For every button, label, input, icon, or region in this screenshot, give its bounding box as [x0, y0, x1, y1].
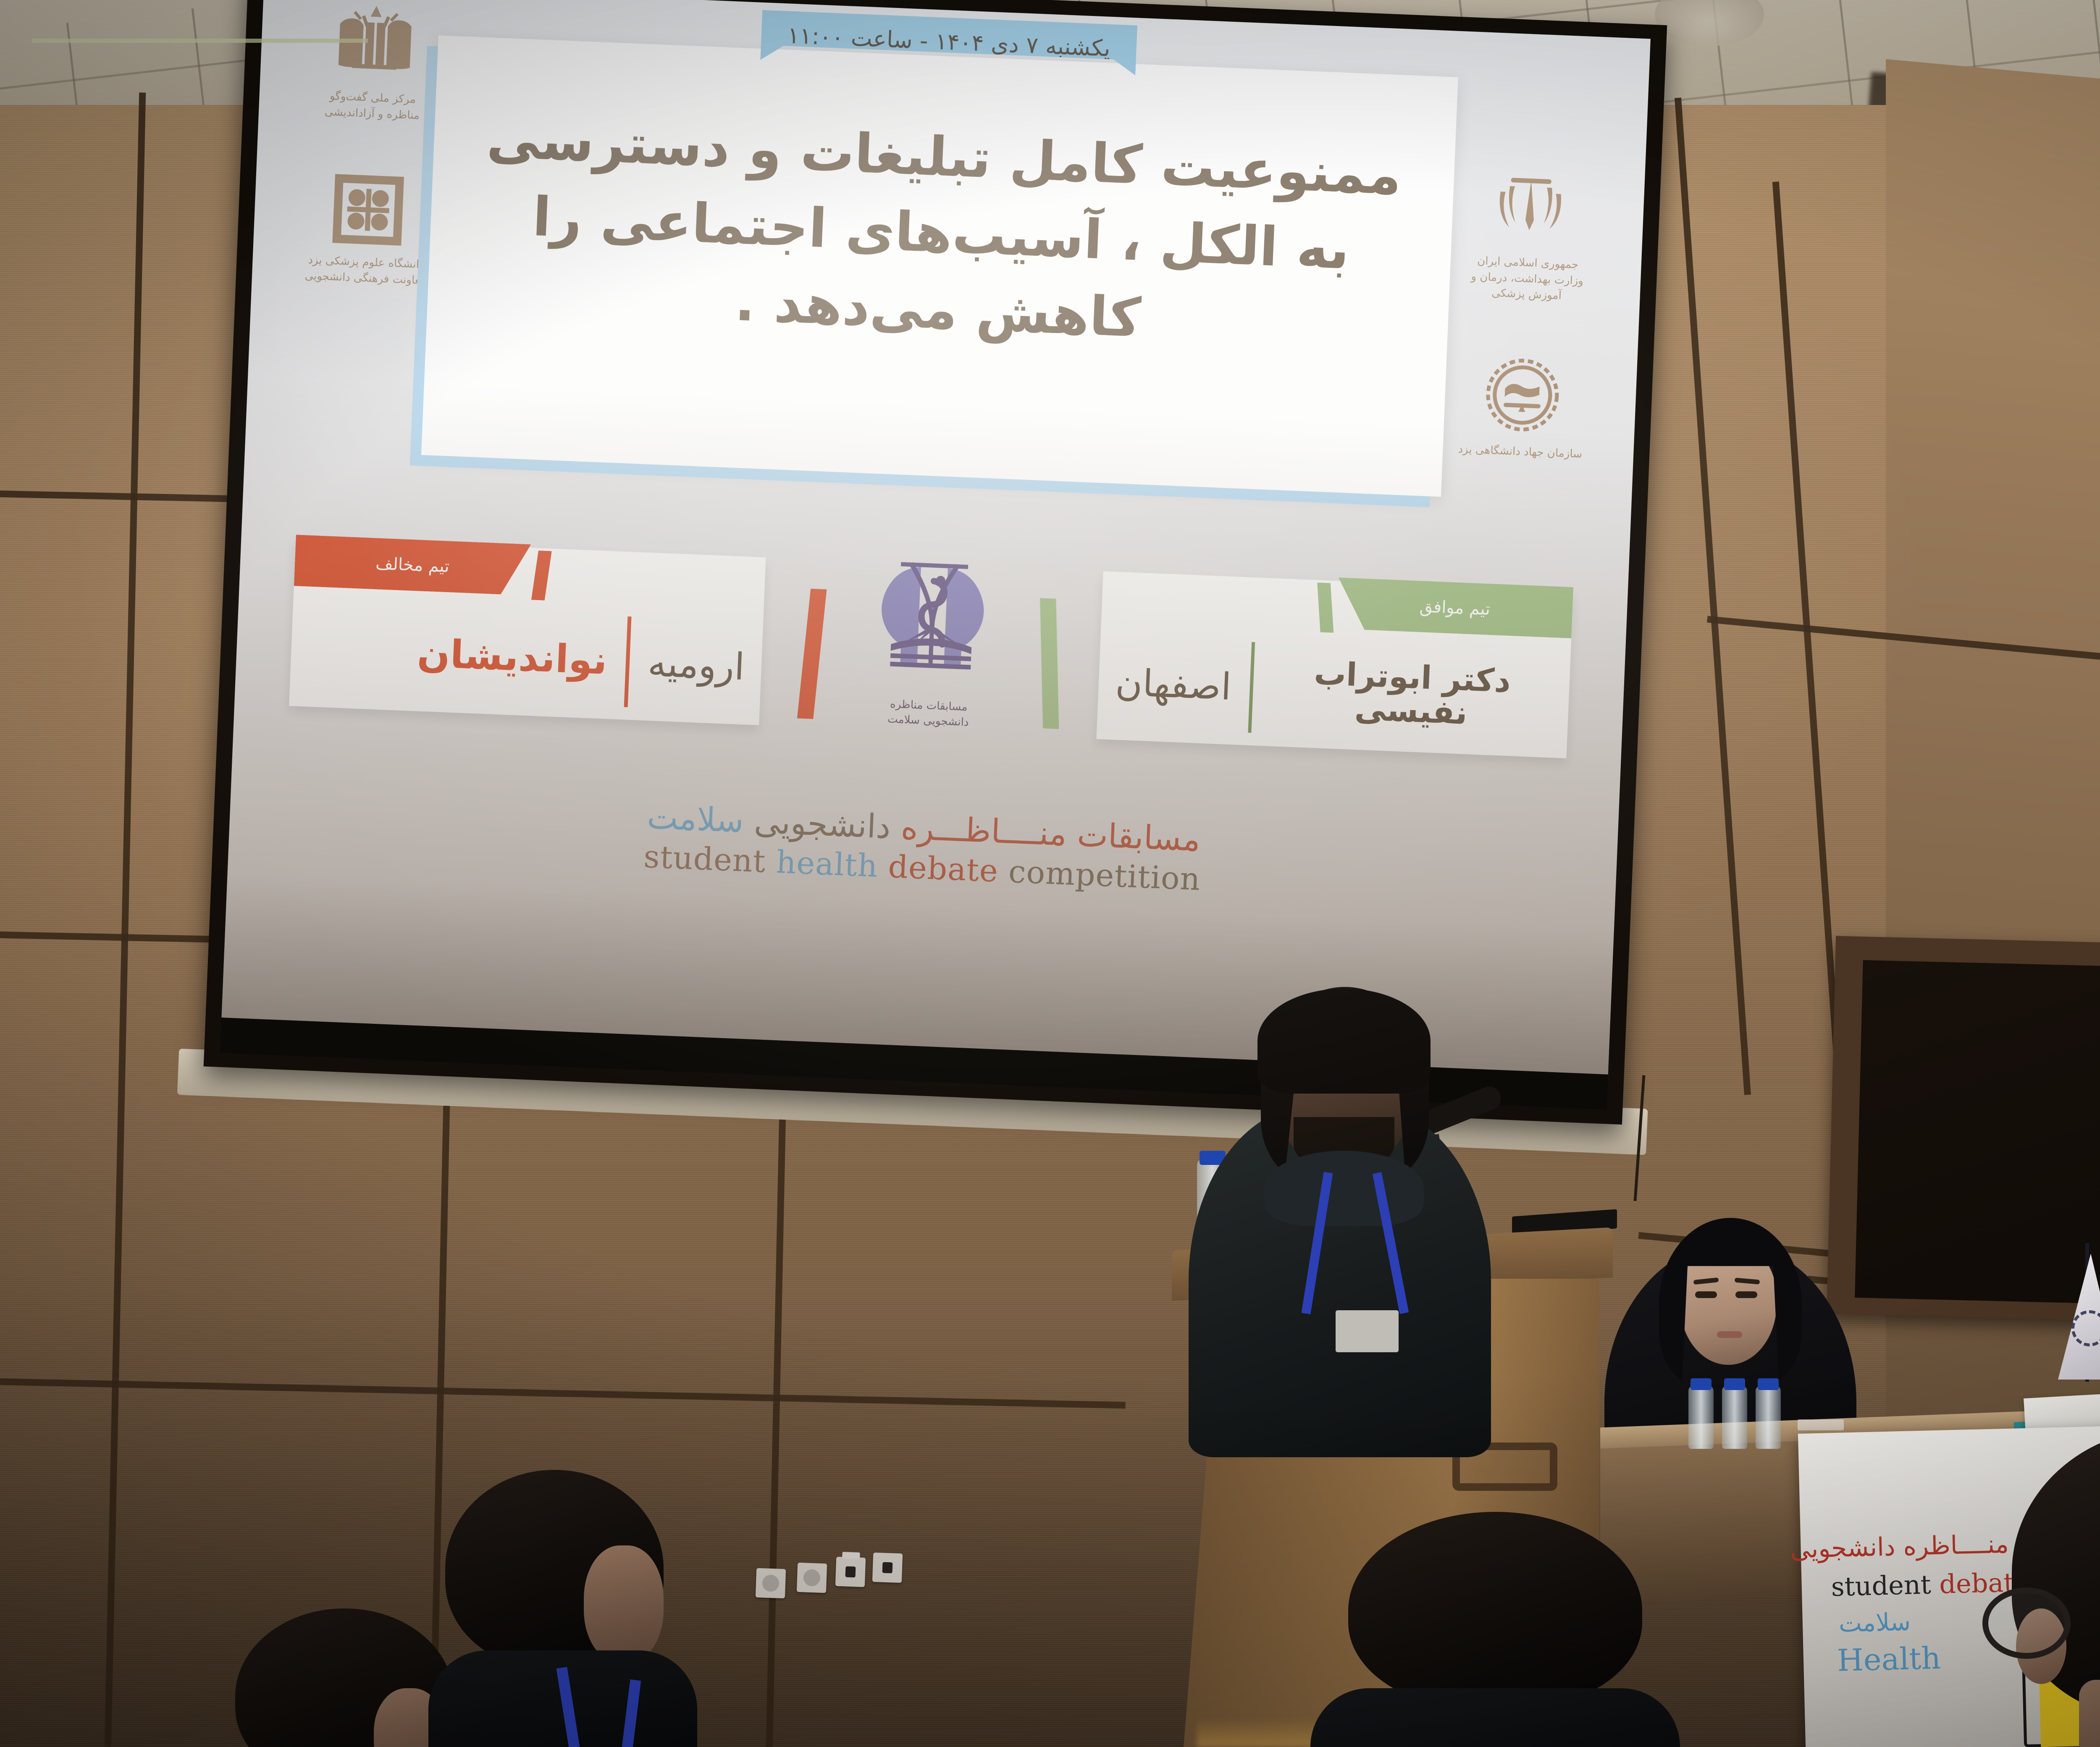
judge-mouth	[1717, 1331, 1742, 1338]
scoring-papers	[2024, 1387, 2100, 1432]
slide-brand-footer: مسابقات منــــاظـــره دانشجویی سلامت stu…	[543, 794, 1302, 902]
proposition-team-city: اصفهان	[1115, 660, 1232, 708]
projection-screen-surface: مرکز ملی گفت‌وگو مناظره و آزاداندیشی	[221, 0, 1650, 1074]
national-dialogue-center-logo: مرکز ملی گفت‌وگو مناظره و آزاداندیشی	[309, 1, 439, 124]
eyeglasses-icon	[1982, 1587, 2071, 1659]
speaker-name-badge	[1336, 1310, 1399, 1352]
water-bottle	[1722, 1386, 1747, 1449]
socket-hole	[762, 1574, 779, 1592]
opposition-team-flag-label: تیم مخالف	[294, 535, 531, 595]
debate-competition-emblem: مسابقات مناظره دانشجویی سلامت	[835, 552, 1027, 740]
audience-shoulders	[1310, 1688, 1680, 1747]
bottle-cap	[1758, 1378, 1779, 1390]
port-flap	[842, 1552, 860, 1559]
audience-member-front-left	[235, 1608, 454, 1747]
brand-fa-part-2: ـــاظـــره	[890, 808, 1031, 852]
debate-motion-title: ممنوعیت کامل تبلیغات و دسترسی به الکل ، …	[456, 100, 1426, 368]
jahad-daneshgahi-logo: سازمان جهاد دانشگاهی یزد	[1457, 351, 1587, 463]
brand-en-word-student: student	[643, 839, 766, 880]
wall-panel-inner	[1855, 960, 2100, 1306]
opposition-team-city: ارومیه	[647, 641, 745, 688]
university-cultural-institute-logo: دانشگاه علوم پزشکی یزد معاونت فرهنگی دان…	[302, 170, 433, 289]
proposition-slash-accent	[1034, 598, 1064, 729]
brand-en-word-health: health	[775, 844, 879, 884]
proposition-team-card: تیم موافق اصفهان دکتر ابوتراب نفیسی	[1096, 571, 1573, 758]
port-hole	[845, 1566, 856, 1578]
judge-eye-left	[1695, 1291, 1717, 1298]
wall-data-port-1[interactable]	[835, 1557, 866, 1587]
bottle-cap	[1724, 1378, 1745, 1390]
wall-socket-1[interactable]	[756, 1568, 786, 1598]
opposition-flag-tick	[531, 550, 552, 601]
water-bottle	[1688, 1386, 1714, 1449]
proposition-team-name: دکتر ابوتراب نفیسی	[1270, 655, 1553, 733]
audience-face	[584, 1545, 664, 1663]
emblem-caption: مسابقات مناظره دانشجویی سلامت	[835, 694, 1021, 732]
opposition-team-name: نواندیشان	[416, 633, 608, 681]
iran-emblem-ministry-of-health-logo: جمهوری اسلامی ایران وزارت بهداشت، درمان …	[1463, 170, 1594, 305]
brand-fa-part-4: سلامت	[646, 798, 745, 840]
projection-screen-frame: مرکز ملی گفت‌وگو مناظره و آزاداندیشی	[204, 0, 1667, 1125]
team-divider	[624, 616, 631, 707]
logo-caption: جمهوری اسلامی ایران وزارت بهداشت، درمان …	[1463, 253, 1591, 305]
team-divider	[1248, 642, 1255, 733]
presentation-slide: مرکز ملی گفت‌وگو مناظره و آزاداندیشی	[221, 0, 1650, 1074]
logo-caption: دانشگاه علوم پزشکی یزد معاونت فرهنگی دان…	[302, 252, 429, 289]
speaker-hair-top	[1257, 989, 1431, 1094]
audience-member-front-left-2	[445, 1470, 664, 1747]
bottle-cap	[1690, 1378, 1711, 1390]
brand-fa-part-3: دانشجویی	[743, 803, 891, 846]
speaker-turtleneck-collar	[1264, 1151, 1424, 1226]
wall-socket-2[interactable]	[797, 1563, 827, 1593]
conference-hall-photo: مرکز ملی گفت‌وگو مناظره و آزاداندیشی	[0, 0, 2100, 1747]
slide-right-logos: جمهوری اسلامی ایران وزارت بهداشت، درمان …	[1455, 170, 1595, 513]
proposition-flag-tick	[1315, 582, 1336, 633]
opposition-slash-accent	[797, 588, 827, 719]
opposition-team-body: ارومیه نواندیشان	[306, 602, 746, 713]
banner-en-word-student: student	[1831, 1569, 1932, 1602]
port-hole	[882, 1562, 893, 1574]
wall-data-port-2[interactable]	[872, 1553, 903, 1583]
banner-health-english: Health	[1837, 1640, 1941, 1678]
slide-title-card: یکشنبه ۷ دی ۱۴۰۴ - ساعت ۱۱:۰۰ ممنوعیت کا…	[421, 35, 1458, 497]
logo-caption: مرکز ملی گفت‌وگو مناظره و آزاداندیشی	[309, 88, 436, 125]
slide-left-logos: مرکز ملی گفت‌وگو مناظره و آزاداندیشی	[300, 1, 439, 339]
brand-en-word-competition: competition	[1008, 854, 1202, 898]
wall-mounted-dark-panel	[1827, 936, 2100, 1324]
proposition-team-flag-label: تیم موافق	[1336, 577, 1574, 638]
judge-eye-right	[1735, 1291, 1757, 1298]
logo-caption: سازمان جهاد دانشگاهی یزد	[1457, 442, 1583, 463]
banner-health-persian: سلامت	[1838, 1608, 1911, 1638]
audience-member-front-center	[1348, 1512, 1642, 1747]
socket-hole	[803, 1569, 820, 1586]
audience-member-front-right-with-glasses	[1987, 1428, 2100, 1747]
speaking-student-at-podium	[1168, 991, 1520, 1453]
proposition-team-body: اصفهان دکتر ابوتراب نفیسی	[1113, 635, 1554, 747]
audience-neck	[2079, 1680, 2100, 1747]
opposition-team-card: تیم مخالف ارومیه نواندیشان	[289, 538, 766, 725]
slide-date-time-tab: یکشنبه ۷ دی ۱۴۰۴ - ساعت ۱۱:۰۰	[760, 10, 1137, 76]
wall-panel-highlight	[32, 39, 368, 43]
brand-fa-part-1: مسابقات منـ	[1029, 814, 1201, 859]
audience-hair	[1348, 1512, 1642, 1709]
desk-nameplate	[1798, 1419, 1844, 1430]
water-bottle	[1756, 1386, 1781, 1449]
brand-en-word-debate: debate	[887, 849, 999, 889]
